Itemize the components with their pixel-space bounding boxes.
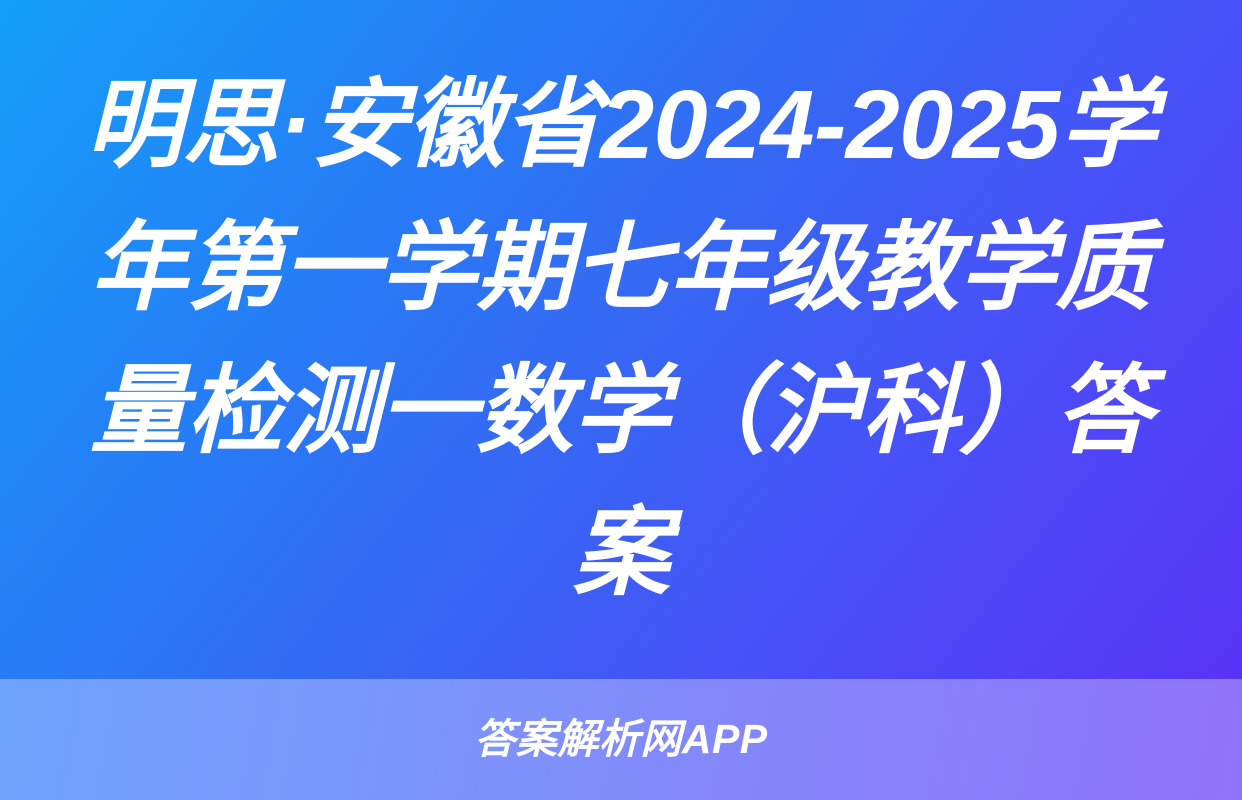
watermark-band: 答案解析网APP	[0, 679, 1242, 800]
page-title: 明思·安徽省2024-2025学年第一学期七年级教学质量检测一数学（沪科）答案	[78, 54, 1164, 624]
footer-brand-label: 答案解析网APP	[474, 719, 767, 760]
title-area: 明思·安徽省2024-2025学年第一学期七年级教学质量检测一数学（沪科）答案	[0, 0, 1242, 679]
poster-card: 明思·安徽省2024-2025学年第一学期七年级教学质量检测一数学（沪科）答案 …	[0, 0, 1242, 800]
